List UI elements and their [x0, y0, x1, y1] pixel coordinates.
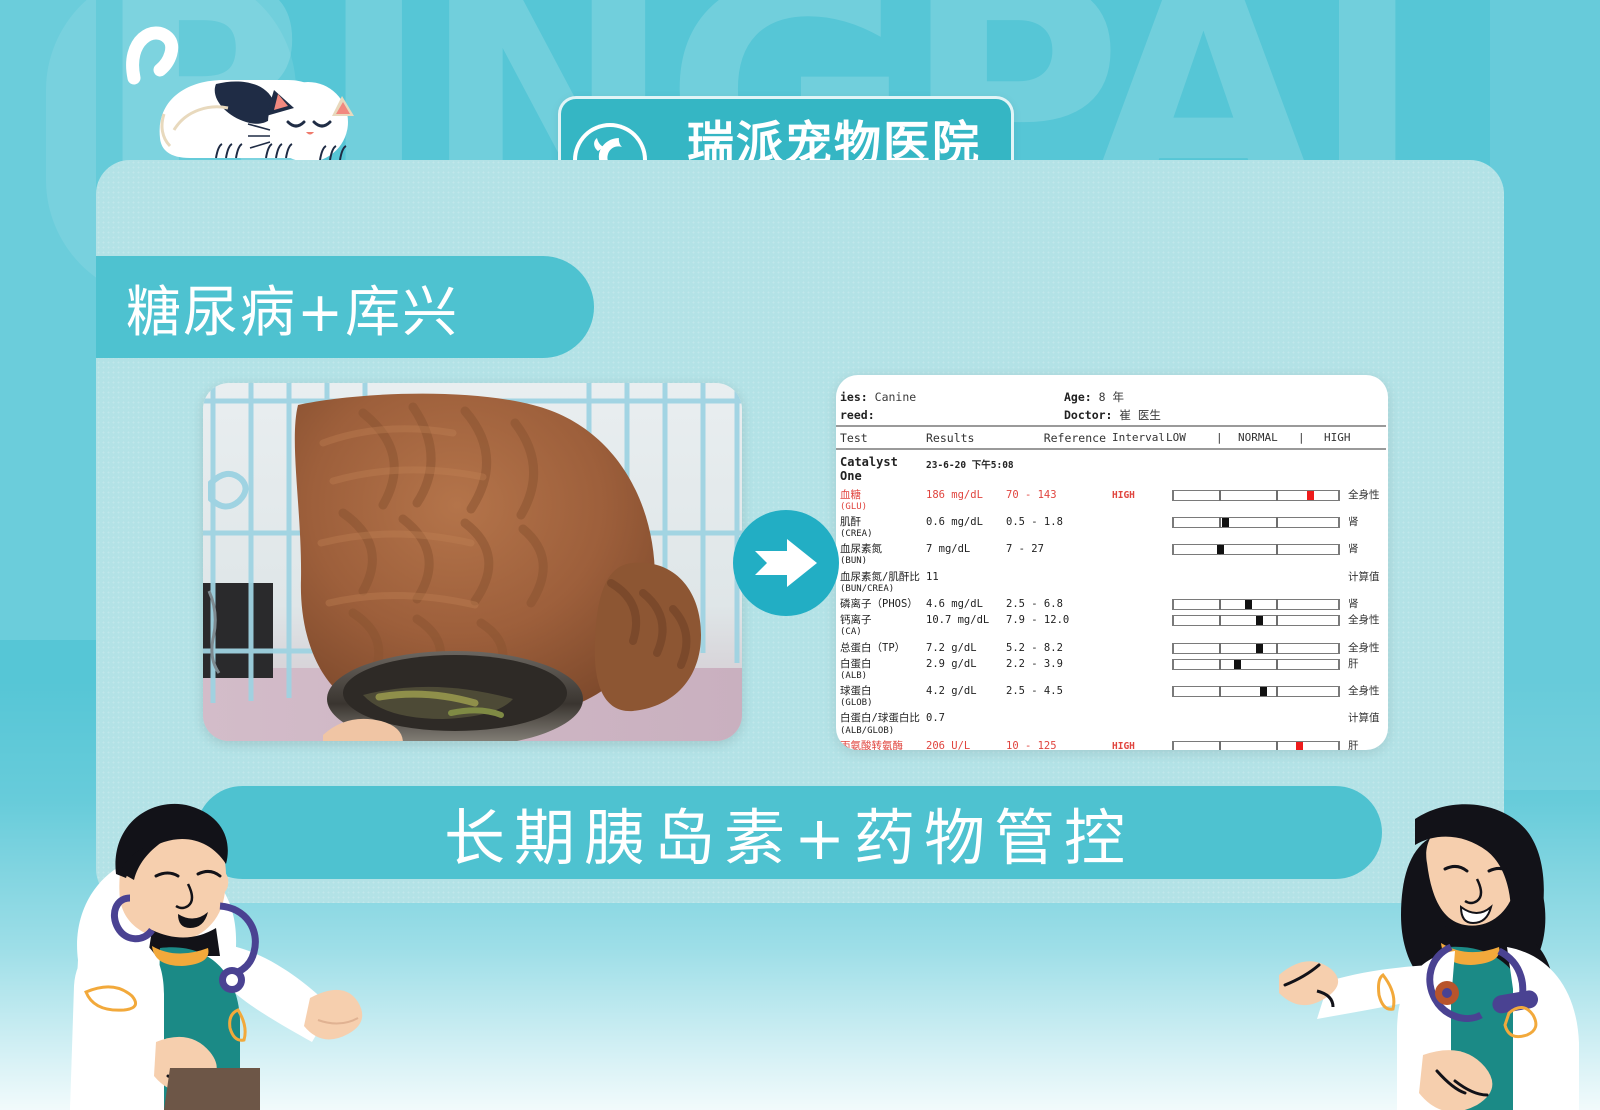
breed-label: reed:: [840, 408, 875, 422]
row-flag: [1106, 685, 1172, 686]
row-range-bar: [1172, 489, 1342, 501]
row-test-code: (GLU): [840, 502, 926, 513]
patient-photo: [203, 383, 742, 741]
row-result: 11: [926, 571, 1002, 584]
diagnosis-title-text: 糖尿病+库兴: [126, 267, 459, 347]
row-organ: 肾: [1342, 543, 1386, 556]
row-range-marker: [1260, 687, 1267, 696]
row-organ: 全身性: [1342, 614, 1386, 627]
row-test-name: 白蛋白/球蛋白比(ALB/GLOB): [836, 712, 926, 736]
row-organ: 肾: [1342, 598, 1386, 611]
row-test-code: (BUN): [840, 556, 926, 567]
row-test-name: 丙氨酸转氨酶(ALT): [836, 740, 926, 750]
row-range-marker: [1234, 660, 1241, 669]
report-table-header: Test Results Reference Interval LOW | NO…: [836, 427, 1386, 450]
row-result: 4.2 g/dL: [926, 685, 1002, 698]
row-reference-range: 7 - 27: [1002, 543, 1106, 556]
row-reference-range: 7.9 - 12.0: [1002, 614, 1106, 627]
row-flag: [1106, 614, 1172, 615]
row-test-name: 钙离子(CA): [836, 614, 926, 638]
row-organ: 全身性: [1342, 642, 1386, 655]
row-reference-range: 2.5 - 6.8: [1002, 598, 1106, 611]
background-right-panel: [1490, 0, 1600, 790]
row-result: 2.9 g/dL: [926, 658, 1002, 671]
row-organ: 计算值: [1342, 571, 1386, 584]
row-test-code: (BUN/CREA): [840, 584, 926, 595]
section-time: 23-6-20 下午5:08: [926, 455, 1014, 483]
row-range-marker: [1256, 644, 1263, 653]
row-organ: 肝: [1342, 740, 1386, 750]
doctor-value: 崔 医生: [1119, 408, 1160, 422]
row-reference-range: 70 - 143: [1002, 489, 1106, 502]
diagnosis-title-pill: 糖尿病+库兴: [96, 256, 594, 358]
row-test-name: 血糖(GLU): [836, 489, 926, 513]
row-range-bar: [1172, 543, 1342, 555]
report-section-header: Catalyst One 23-6-20 下午5:08: [836, 450, 1386, 487]
row-range-marker: [1256, 616, 1263, 625]
row-flag: HIGH: [1106, 740, 1172, 750]
header-normal: NORMAL: [1238, 431, 1278, 444]
row-organ: 全身性: [1342, 489, 1386, 502]
female-doctor-illustration: [1255, 775, 1600, 1110]
row-organ: 肾: [1342, 516, 1386, 529]
report-row: 球蛋白(GLOB)4.2 g/dL2.5 - 4.5全身性: [836, 684, 1386, 711]
row-range-marker: [1222, 518, 1229, 527]
row-range-marker: [1217, 545, 1224, 554]
row-flag: HIGH: [1106, 489, 1172, 502]
row-result: 0.6 mg/dL: [926, 516, 1002, 529]
row-range-marker: [1296, 742, 1303, 750]
report-row: 白蛋白/球蛋白比(ALB/GLOB)0.7计算值: [836, 711, 1386, 738]
header-results: Results: [926, 431, 1002, 445]
report-row: 血尿素氮(BUN)7 mg/dL7 - 27肾: [836, 542, 1386, 569]
species-label: ies:: [840, 390, 868, 404]
lab-report-card: ies: Canine reed: Age: 8 年 Doctor: 崔 医生 …: [836, 375, 1388, 750]
species-value: Canine: [875, 390, 917, 404]
row-test-name: 血尿素氮/肌酐比(BUN/CREA): [836, 571, 926, 595]
row-result: 206 U/L: [926, 740, 1002, 750]
report-row: 钙离子(CA)10.7 mg/dL7.9 - 12.0全身性: [836, 613, 1386, 640]
row-reference-range: 10 - 125: [1002, 740, 1106, 750]
row-result: 7.2 g/dL: [926, 642, 1002, 655]
row-test-code: (CREA): [840, 529, 926, 540]
row-range-bar: [1172, 598, 1342, 610]
row-range-bar: [1172, 685, 1342, 697]
row-test-code: (GLOB): [840, 698, 926, 709]
report-row: 磷离子（PHOS）4.6 mg/dL2.5 - 6.8肾: [836, 597, 1386, 613]
row-reference-range: 5.2 - 8.2: [1002, 642, 1106, 655]
row-range-bar: [1172, 740, 1342, 750]
report-row: 白蛋白(ALB)2.9 g/dL2.2 - 3.9肝: [836, 656, 1386, 683]
row-test-name: 磷离子（PHOS）: [836, 598, 926, 611]
row-range-marker: [1245, 600, 1252, 609]
row-result: 10.7 mg/dL: [926, 614, 1002, 627]
arrow-right-icon: [753, 537, 819, 589]
row-flag: [1106, 642, 1172, 643]
row-organ: 计算值: [1342, 712, 1386, 725]
row-range-bar: [1172, 614, 1342, 626]
sleeping-cat-illustration: [98, 18, 378, 183]
row-range-bar: [1172, 516, 1342, 528]
report-row: 肌酐(CREA)0.6 mg/dL0.5 - 1.8肾: [836, 514, 1386, 541]
report-meta: ies: Canine reed: Age: 8 年 Doctor: 崔 医生: [836, 383, 1388, 419]
row-flag: [1106, 658, 1172, 659]
row-result: 4.6 mg/dL: [926, 598, 1002, 611]
header-low: LOW: [1166, 431, 1186, 444]
header-test: Test: [836, 431, 926, 445]
treatment-banner-text: 长期胰岛素+药物管控: [444, 788, 1134, 877]
row-range-bar: [1172, 658, 1342, 670]
doctor-label: Doctor:: [1064, 408, 1112, 422]
header-sep2: |: [1298, 431, 1305, 444]
row-organ: 肝: [1342, 658, 1386, 671]
row-test-name: 总蛋白（TP）: [836, 642, 926, 655]
row-test-code: (CA): [840, 627, 926, 638]
row-reference-range: 2.2 - 3.9: [1002, 658, 1106, 671]
row-organ: 全身性: [1342, 685, 1386, 698]
row-reference-range: 2.5 - 4.5: [1002, 685, 1106, 698]
age-value: 8 年: [1099, 390, 1124, 404]
row-range-marker: [1307, 491, 1314, 500]
row-flag: [1106, 571, 1172, 572]
male-doctor-illustration: [60, 780, 390, 1110]
report-rows: 血糖(GLU)186 mg/dL70 - 143HIGH全身性肌酐(CREA)0…: [836, 487, 1386, 750]
row-result: 186 mg/dL: [926, 489, 1002, 502]
row-range-bar: [1172, 642, 1342, 654]
row-test-name: 肌酐(CREA): [836, 516, 926, 540]
row-flag: [1106, 543, 1172, 544]
header-high: HIGH: [1324, 431, 1351, 444]
row-test-code: (ALB): [840, 671, 926, 682]
row-test-name: 白蛋白(ALB): [836, 658, 926, 682]
row-flag: [1106, 712, 1172, 713]
header-interval: Interval: [1106, 431, 1172, 445]
background-left-panel: [0, 0, 96, 640]
row-test-code: (ALB/GLOB): [840, 726, 926, 737]
row-test-name: 球蛋白(GLOB): [836, 685, 926, 709]
report-row: 总蛋白（TP）7.2 g/dL5.2 - 8.2全身性: [836, 640, 1386, 656]
report-row: 丙氨酸转氨酶(ALT)206 U/L10 - 125HIGH肝: [836, 738, 1386, 750]
age-label: Age:: [1064, 390, 1092, 404]
row-flag: [1106, 598, 1172, 599]
section-name: Catalyst One: [836, 455, 926, 483]
row-result: 7 mg/dL: [926, 543, 1002, 556]
header-reference: Reference: [1002, 431, 1106, 445]
row-flag: [1106, 516, 1172, 517]
header-sep1: |: [1216, 431, 1223, 444]
process-arrow: [733, 510, 839, 616]
row-result: 0.7: [926, 712, 1002, 725]
row-test-name: 血尿素氮(BUN): [836, 543, 926, 567]
row-reference-range: 0.5 - 1.8: [1002, 516, 1106, 529]
report-row: 血糖(GLU)186 mg/dL70 - 143HIGH全身性: [836, 487, 1386, 514]
report-row: 血尿素氮/肌酐比(BUN/CREA)11计算值: [836, 569, 1386, 596]
